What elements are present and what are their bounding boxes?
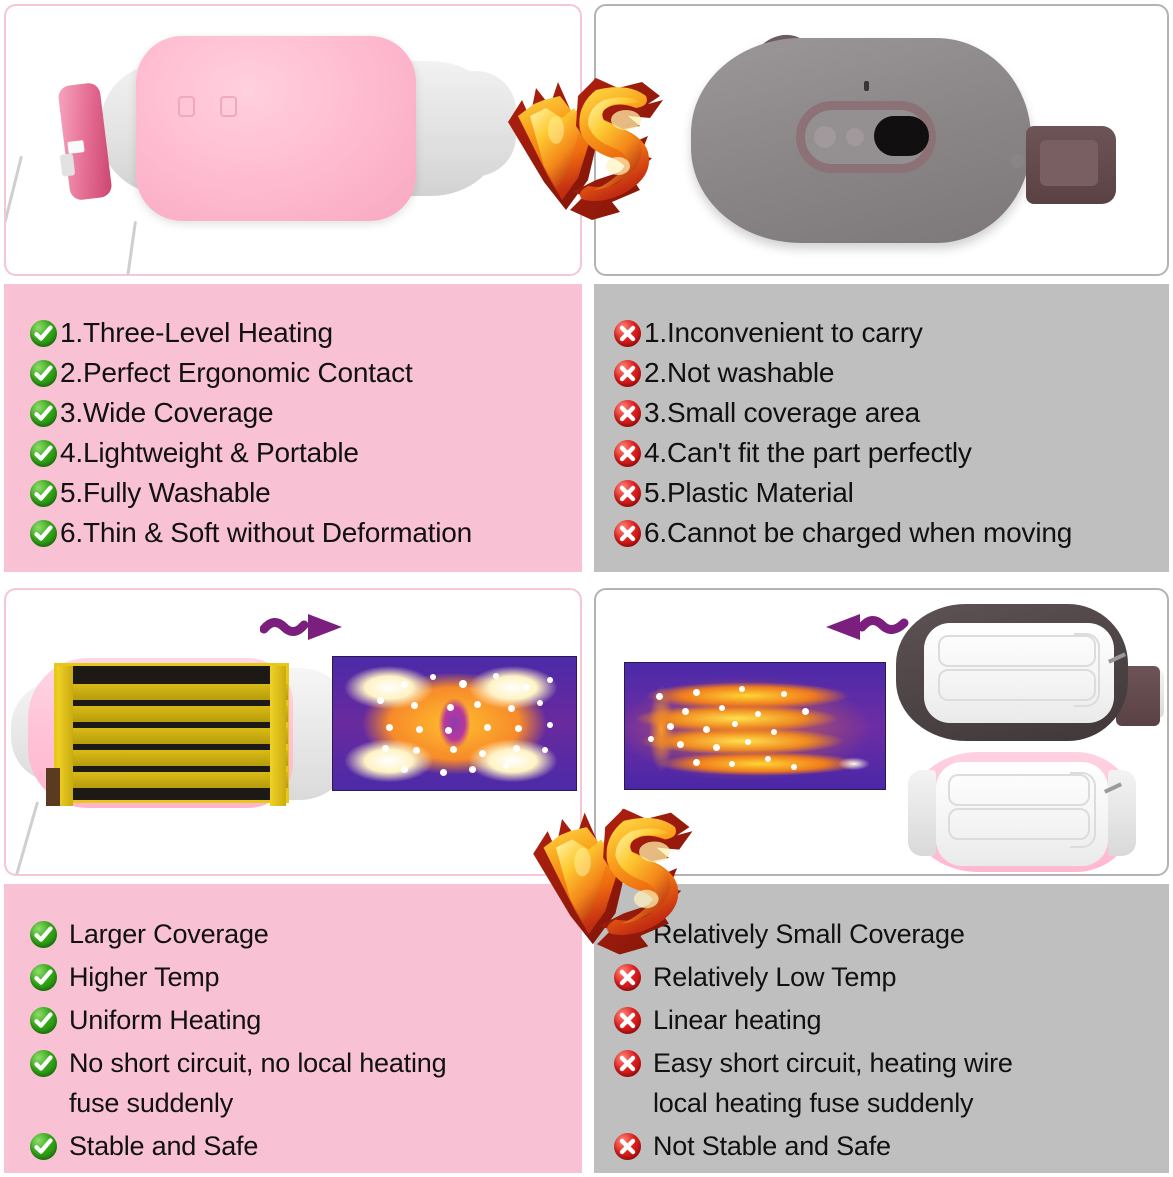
control-button-2 (846, 128, 864, 146)
cross-icon (614, 1133, 641, 1160)
check-icon (30, 480, 57, 507)
list-item-label: 5.Plastic Material (644, 474, 854, 512)
list-item-label: Relatively Small Coverage (653, 914, 965, 954)
cons-list-panel-top: 1.Inconvenient to carry 2.Not washable 3… (594, 284, 1169, 572)
list-item-label: 1.Inconvenient to carry (644, 314, 923, 352)
cross-icon (614, 921, 641, 948)
infographic-root: 1.Three-Level Heating 2.Perfect Ergonomi… (0, 0, 1173, 1177)
pros-list-panel-top: 1.Three-Level Heating 2.Perfect Ergonomi… (4, 284, 582, 572)
check-icon (30, 1007, 57, 1034)
list-item-label: 3.Small coverage area (644, 394, 920, 432)
list-item: 4.Can't fit the part perfectly (614, 434, 1169, 472)
heat-level-icon (220, 96, 237, 117)
list-item-label: 3.Wide Coverage (60, 394, 273, 432)
list-item: Easy short circuit, heating wire local h… (614, 1043, 1169, 1123)
film-connector-tab (46, 768, 60, 806)
thermal-image-linear (624, 662, 886, 790)
list-item-label: 4.Lightweight & Portable (60, 434, 359, 472)
cons-list-top: 1.Inconvenient to carry 2.Not washable 3… (594, 284, 1169, 554)
usb-cable-secondary (123, 221, 137, 276)
check-icon (30, 1133, 57, 1160)
list-item-label: Larger Coverage (69, 914, 269, 954)
list-item: 3.Small coverage area (614, 394, 1169, 432)
list-item: 6.Cannot be charged when moving (614, 514, 1169, 552)
list-item: 3.Wide Coverage (30, 394, 582, 432)
power-cable (15, 802, 39, 876)
list-item: 5.Plastic Material (614, 474, 1169, 512)
list-item-label: 2.Perfect Ergonomic Contact (60, 354, 413, 392)
list-item: Higher Temp (30, 957, 582, 997)
check-icon (30, 440, 57, 467)
list-item-label: Uniform Heating (69, 1000, 261, 1040)
check-icon (30, 964, 57, 991)
list-item: Relatively Low Temp (614, 957, 1169, 997)
buckle (1026, 126, 1116, 204)
indicator-pin (864, 81, 869, 91)
cross-icon (614, 964, 641, 991)
cross-icon (614, 360, 641, 387)
gray-plastic-heating-belt-photo (596, 6, 1167, 274)
list-item-label: Easy short circuit, heating wire local h… (653, 1043, 1013, 1123)
list-item-label: 6.Thin & Soft without Deformation (60, 514, 472, 552)
list-item: 1.Three-Level Heating (30, 314, 582, 352)
cross-icon (614, 400, 641, 427)
wire-heating-pad-and-thermal-image (596, 590, 1167, 874)
check-icon (30, 520, 57, 547)
cross-icon (614, 520, 641, 547)
wavy-arrow-right-icon (260, 610, 350, 649)
list-item-label: No short circuit, no local heating fuse … (69, 1043, 446, 1123)
usb-connector (60, 153, 76, 176)
list-item-label: Not Stable and Safe (653, 1126, 891, 1166)
list-item-label: 5.Fully Washable (60, 474, 271, 512)
wire-heating-pad-gray (924, 623, 1114, 723)
cross-icon (614, 440, 641, 467)
pros-list-panel-bottom: Larger Coverage Higher Temp Uniform Heat… (4, 884, 582, 1173)
cross-icon (614, 320, 641, 347)
control-button-1 (814, 126, 836, 148)
list-item-label: Higher Temp (69, 957, 219, 997)
list-item-label: 4.Can't fit the part perfectly (644, 434, 972, 472)
list-item: Uniform Heating (30, 1000, 582, 1040)
graphene-heating-film (54, 663, 289, 803)
wire-heating-pad-pink (936, 762, 1108, 866)
cons-list-bottom: Relatively Small Coverage Relatively Low… (594, 884, 1169, 1169)
list-item-label: 1.Three-Level Heating (60, 314, 333, 352)
graphene-heating-film-and-thermal-image (6, 590, 580, 874)
pros-list-bottom: Larger Coverage Higher Temp Uniform Heat… (4, 884, 582, 1169)
list-item-label: 6.Cannot be charged when moving (644, 514, 1072, 552)
display-screen (874, 116, 929, 156)
check-icon (30, 320, 57, 347)
list-item: 5.Fully Washable (30, 474, 582, 512)
pros-list-top: 1.Three-Level Heating 2.Perfect Ergonomi… (4, 284, 582, 554)
list-item: 2.Perfect Ergonomic Contact (30, 354, 582, 392)
list-item: Linear heating (614, 1000, 1169, 1040)
list-item: No short circuit, no local heating fuse … (30, 1043, 582, 1123)
list-item: 6.Thin & Soft without Deformation (30, 514, 582, 552)
check-icon (30, 921, 57, 948)
heating-pad (136, 36, 416, 221)
list-item-label: Linear heating (653, 1000, 821, 1040)
side-port (1011, 154, 1025, 168)
check-icon (30, 360, 57, 387)
usb-cable (4, 156, 23, 268)
check-icon (30, 1050, 57, 1077)
pink-heating-belt-photo (6, 6, 580, 274)
product-image-panel-pro (4, 4, 582, 276)
list-item-label: Stable and Safe (69, 1126, 258, 1166)
list-item-label: 2.Not washable (644, 354, 834, 392)
list-item: Stable and Safe (30, 1126, 582, 1166)
strap-pink-left (908, 770, 936, 856)
check-icon (30, 400, 57, 427)
list-item: Larger Coverage (30, 914, 582, 954)
cross-icon (614, 1007, 641, 1034)
strap-pink-right (1108, 770, 1136, 856)
product-image-panel-con (594, 4, 1169, 276)
belt-strap-right (406, 71, 516, 176)
heating-tech-panel-con (594, 588, 1169, 876)
list-item: Relatively Small Coverage (614, 914, 1169, 954)
list-item: 4.Lightweight & Portable (30, 434, 582, 472)
list-item: 2.Not washable (614, 354, 1169, 392)
list-item-label: Relatively Low Temp (653, 957, 896, 997)
wavy-arrow-left-icon (818, 610, 913, 649)
list-item: Not Stable and Safe (614, 1126, 1169, 1166)
cons-list-panel-bottom: Relatively Small Coverage Relatively Low… (594, 884, 1169, 1173)
thermal-image-uniform (332, 656, 577, 791)
cross-icon (614, 480, 641, 507)
battery-port (67, 140, 84, 154)
cross-icon (614, 1050, 641, 1077)
power-icon (178, 96, 195, 117)
list-item: 1.Inconvenient to carry (614, 314, 1169, 352)
heating-tech-panel-pro (4, 588, 582, 876)
